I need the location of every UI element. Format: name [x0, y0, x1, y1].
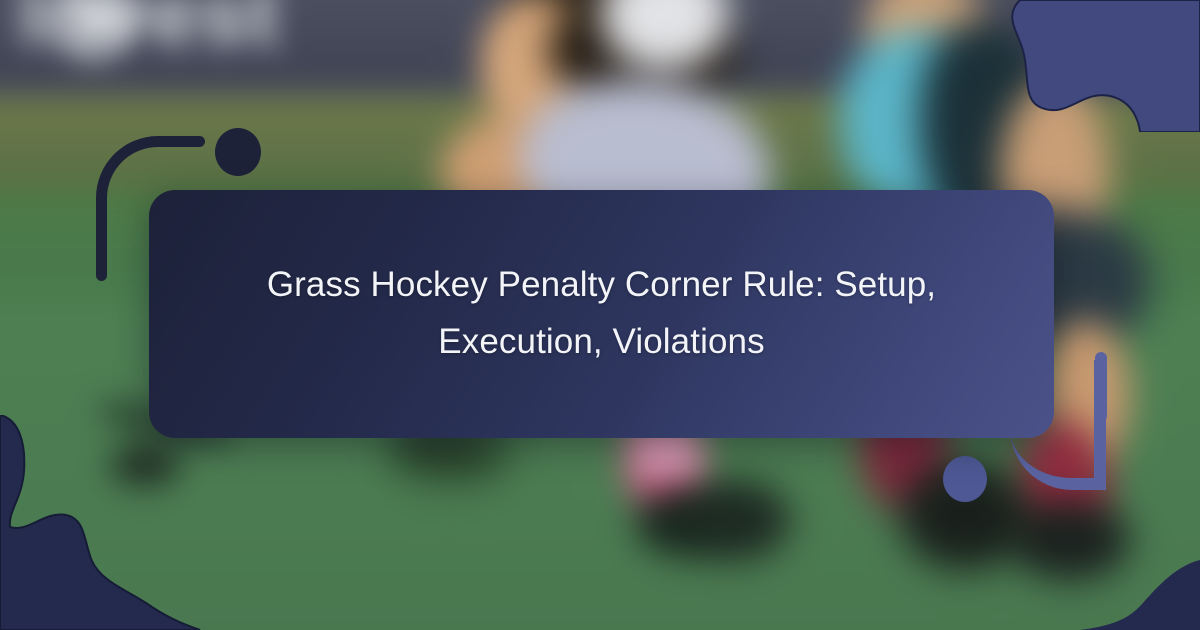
top-left-circle-dot [215, 128, 261, 176]
player-four-sock-stripe [632, 457, 704, 470]
player-four-shoe [680, 480, 790, 560]
title-card: Grass Hockey Penalty Corner Rule: Setup,… [149, 190, 1054, 438]
hoarding-banner-text: Invest [20, 0, 281, 65]
page-title: Grass Hockey Penalty Corner Rule: Setup,… [223, 257, 980, 370]
share-card-canvas: Invest [0, 0, 1200, 630]
bottom-left-blob-shape [0, 415, 225, 630]
bottom-right-elbow-stem [1095, 352, 1107, 422]
top-right-blob-shape [990, 0, 1200, 132]
bottom-right-blob-shape [1080, 550, 1200, 630]
bottom-right-circle-dot [943, 456, 987, 502]
